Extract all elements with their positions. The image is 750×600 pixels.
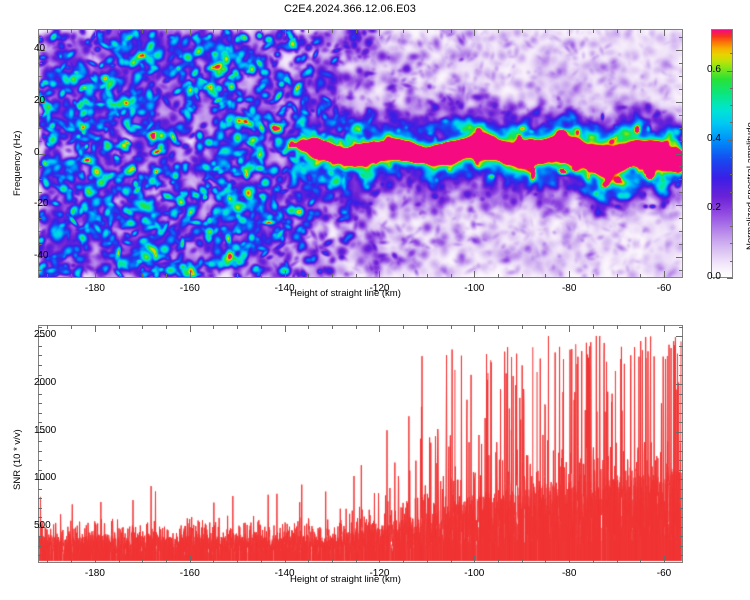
axis-tick — [308, 325, 309, 329]
axis-tick — [545, 29, 546, 33]
axis-tick — [676, 527, 683, 528]
axis-tick — [38, 375, 42, 376]
axis-tick — [95, 556, 96, 563]
axis-tick — [71, 559, 72, 563]
axis-tick — [308, 274, 309, 278]
axis-tick — [679, 179, 683, 180]
axis-tick — [166, 274, 167, 278]
axis-tick — [261, 29, 262, 33]
spectrogram-image — [39, 30, 682, 277]
axis-tick — [285, 556, 286, 563]
axis-tick — [190, 325, 191, 332]
axis-tick — [676, 154, 683, 155]
axis-tick — [679, 470, 683, 471]
axis-tick — [379, 325, 380, 332]
axis-tick — [379, 271, 380, 278]
axis-tick-label: -80 — [562, 283, 576, 294]
axis-tick — [451, 325, 452, 329]
axis-tick — [679, 327, 683, 328]
axis-tick — [261, 559, 262, 563]
axis-tick — [38, 63, 42, 64]
axis-tick-label: -60 — [657, 568, 671, 579]
axis-tick — [213, 559, 214, 563]
axis-tick — [730, 88, 733, 89]
axis-tick — [727, 140, 733, 141]
axis-tick — [403, 29, 404, 33]
axis-tick — [679, 192, 683, 193]
axis-tick — [47, 559, 48, 563]
axis-tick — [679, 115, 683, 116]
axis-tick — [38, 355, 42, 356]
axis-tick — [679, 365, 683, 366]
axis-tick — [38, 89, 42, 90]
axis-tick — [38, 346, 42, 347]
axis-tick — [679, 451, 683, 452]
axis-tick — [679, 517, 683, 518]
axis-tick — [38, 508, 42, 509]
axis-tick — [640, 274, 641, 278]
axis-tick — [640, 325, 641, 329]
axis-tick — [261, 325, 262, 329]
axis-tick — [308, 29, 309, 33]
axis-tick — [38, 403, 42, 404]
axis-tick — [593, 325, 594, 329]
axis-tick — [38, 470, 42, 471]
axis-tick — [38, 555, 42, 556]
axis-tick — [119, 559, 120, 563]
axis-tick — [38, 115, 42, 116]
axis-tick — [679, 218, 683, 219]
axis-tick — [730, 174, 733, 175]
snr-trace — [39, 326, 682, 562]
axis-tick — [166, 559, 167, 563]
axis-tick — [679, 422, 683, 423]
axis-tick — [498, 274, 499, 278]
spectrogram-panel — [38, 29, 683, 278]
axis-tick-label: -60 — [657, 283, 671, 294]
axis-tick — [545, 274, 546, 278]
axis-tick — [47, 29, 48, 33]
axis-tick — [474, 271, 475, 278]
axis-tick — [213, 274, 214, 278]
axis-tick — [664, 271, 665, 278]
axis-tick — [332, 325, 333, 329]
axis-tick — [451, 274, 452, 278]
axis-tick — [71, 325, 72, 329]
axis-tick-label: -160 — [180, 568, 200, 579]
axis-tick — [356, 29, 357, 33]
axis-tick — [38, 517, 42, 518]
axis-tick — [679, 394, 683, 395]
axis-tick — [95, 325, 96, 332]
axis-tick — [679, 141, 683, 142]
axis-tick — [142, 559, 143, 563]
axis-tick — [498, 325, 499, 329]
axis-tick — [166, 29, 167, 33]
axis-tick — [730, 122, 733, 123]
axis-tick — [679, 244, 683, 245]
axis-tick — [427, 274, 428, 278]
axis-tick — [730, 157, 733, 158]
axis-tick — [676, 336, 683, 337]
axis-tick — [679, 489, 683, 490]
axis-tick — [679, 498, 683, 499]
axis-tick — [545, 559, 546, 563]
axis-tick — [522, 274, 523, 278]
axis-tick — [403, 559, 404, 563]
axis-tick — [38, 546, 42, 547]
axis-tick — [38, 244, 42, 245]
axis-tick — [617, 325, 618, 329]
axis-tick — [38, 218, 42, 219]
axis-tick — [679, 355, 683, 356]
axis-tick — [679, 231, 683, 232]
axis-tick — [617, 274, 618, 278]
axis-tick — [38, 128, 42, 129]
axis-tick — [679, 346, 683, 347]
axis-tick — [617, 559, 618, 563]
axis-tick — [166, 325, 167, 329]
axis-tick — [38, 460, 42, 461]
axis-tick — [727, 209, 733, 210]
axis-tick — [679, 89, 683, 90]
axis-tick — [38, 422, 42, 423]
axis-tick — [569, 271, 570, 278]
axis-tick — [47, 274, 48, 278]
axis-tick — [71, 274, 72, 278]
axis-tick — [356, 559, 357, 563]
axis-tick — [676, 432, 683, 433]
axis-tick — [522, 29, 523, 33]
axis-tick — [679, 375, 683, 376]
axis-tick — [332, 559, 333, 563]
axis-tick — [679, 555, 683, 556]
axis-tick — [356, 325, 357, 329]
axis-tick — [379, 29, 380, 36]
snr-y-axis-label: SNR (10 * v/v) — [12, 429, 23, 490]
axis-tick — [38, 192, 42, 193]
axis-tick — [190, 556, 191, 563]
axis-tick — [237, 559, 238, 563]
axis-tick — [285, 325, 286, 332]
axis-tick — [38, 413, 42, 414]
axis-tick — [676, 205, 683, 206]
axis-tick — [38, 451, 42, 452]
axis-tick — [593, 559, 594, 563]
axis-tick-label: -100 — [464, 568, 484, 579]
axis-tick — [679, 166, 683, 167]
axis-tick — [451, 559, 452, 563]
axis-tick — [593, 274, 594, 278]
axis-tick — [727, 71, 733, 72]
axis-tick — [237, 274, 238, 278]
axis-tick — [679, 413, 683, 414]
axis-tick — [474, 29, 475, 36]
snr-x-axis-label: Height of straight line (km) — [290, 574, 401, 585]
axis-tick — [47, 325, 48, 329]
axis-tick — [522, 559, 523, 563]
axis-tick — [142, 29, 143, 33]
spectrogram-x-axis-label: Height of straight line (km) — [290, 288, 401, 299]
axis-tick-label: -160 — [180, 283, 200, 294]
axis-tick — [679, 63, 683, 64]
axis-tick — [727, 278, 733, 279]
axis-tick — [498, 559, 499, 563]
axis-tick — [498, 29, 499, 33]
axis-tick — [38, 536, 42, 537]
axis-tick — [679, 270, 683, 271]
page-title: C2E4.2024.366.12.06.E03 — [0, 3, 700, 15]
axis-tick — [679, 403, 683, 404]
axis-tick — [427, 29, 428, 33]
axis-tick — [142, 274, 143, 278]
axis-tick — [451, 29, 452, 33]
axis-tick — [261, 274, 262, 278]
axis-tick — [427, 325, 428, 329]
axis-tick — [679, 508, 683, 509]
axis-tick — [730, 105, 733, 106]
axis-tick — [676, 257, 683, 258]
snr-panel — [38, 325, 683, 563]
axis-tick — [545, 325, 546, 329]
axis-tick-label: -180 — [85, 283, 105, 294]
axis-tick-label: -80 — [562, 568, 576, 579]
axis-tick — [38, 498, 42, 499]
axis-tick — [190, 271, 191, 278]
axis-tick — [474, 556, 475, 563]
axis-tick — [664, 325, 665, 332]
axis-tick — [190, 29, 191, 36]
axis-tick — [679, 536, 683, 537]
axis-tick — [379, 556, 380, 563]
axis-tick — [38, 327, 42, 328]
axis-tick — [213, 29, 214, 33]
figure-root: C2E4.2024.366.12.06.E03 40200-20-40 -180… — [0, 0, 750, 600]
axis-tick — [38, 365, 42, 366]
axis-tick — [119, 325, 120, 329]
axis-tick — [38, 166, 42, 167]
axis-tick — [679, 460, 683, 461]
axis-tick — [38, 489, 42, 490]
axis-tick — [237, 325, 238, 329]
axis-tick — [679, 128, 683, 129]
axis-tick — [676, 102, 683, 103]
axis-tick — [664, 29, 665, 36]
axis-tick — [522, 325, 523, 329]
axis-tick — [119, 29, 120, 33]
axis-tick — [38, 179, 42, 180]
spectrogram-y-axis-label: Frequency (Hz) — [12, 131, 23, 196]
axis-tick — [142, 325, 143, 329]
axis-tick — [403, 274, 404, 278]
axis-tick — [730, 261, 733, 262]
axis-tick — [213, 325, 214, 329]
axis-tick — [237, 29, 238, 33]
axis-tick — [285, 271, 286, 278]
axis-tick — [730, 192, 733, 193]
axis-tick — [569, 29, 570, 36]
axis-tick — [95, 271, 96, 278]
axis-tick — [38, 76, 42, 77]
axis-tick — [119, 274, 120, 278]
axis-tick — [38, 394, 42, 395]
axis-tick — [569, 556, 570, 563]
axis-tick — [308, 559, 309, 563]
axis-tick — [285, 29, 286, 36]
axis-tick — [38, 441, 42, 442]
axis-tick — [676, 384, 683, 385]
axis-tick — [38, 270, 42, 271]
axis-tick — [427, 559, 428, 563]
axis-tick — [679, 37, 683, 38]
axis-tick-label: -100 — [464, 283, 484, 294]
axis-tick — [679, 441, 683, 442]
axis-tick — [332, 29, 333, 33]
axis-tick — [676, 479, 683, 480]
axis-tick — [569, 325, 570, 332]
axis-tick — [664, 556, 665, 563]
axis-tick — [403, 325, 404, 329]
axis-tick — [71, 29, 72, 33]
axis-tick — [38, 37, 42, 38]
axis-tick — [730, 243, 733, 244]
axis-tick — [640, 29, 641, 33]
axis-tick — [95, 29, 96, 36]
axis-tick — [474, 325, 475, 332]
colorbar-label: Normalized spectral amplitude — [745, 122, 750, 250]
axis-tick — [730, 53, 733, 54]
axis-tick-label: -180 — [85, 568, 105, 579]
axis-tick — [640, 559, 641, 563]
axis-tick — [617, 29, 618, 33]
axis-tick — [730, 226, 733, 227]
axis-tick — [332, 274, 333, 278]
axis-tick — [679, 76, 683, 77]
axis-tick — [38, 141, 42, 142]
axis-tick — [676, 50, 683, 51]
axis-tick — [356, 274, 357, 278]
axis-tick — [679, 546, 683, 547]
axis-tick — [38, 231, 42, 232]
axis-tick — [593, 29, 594, 33]
